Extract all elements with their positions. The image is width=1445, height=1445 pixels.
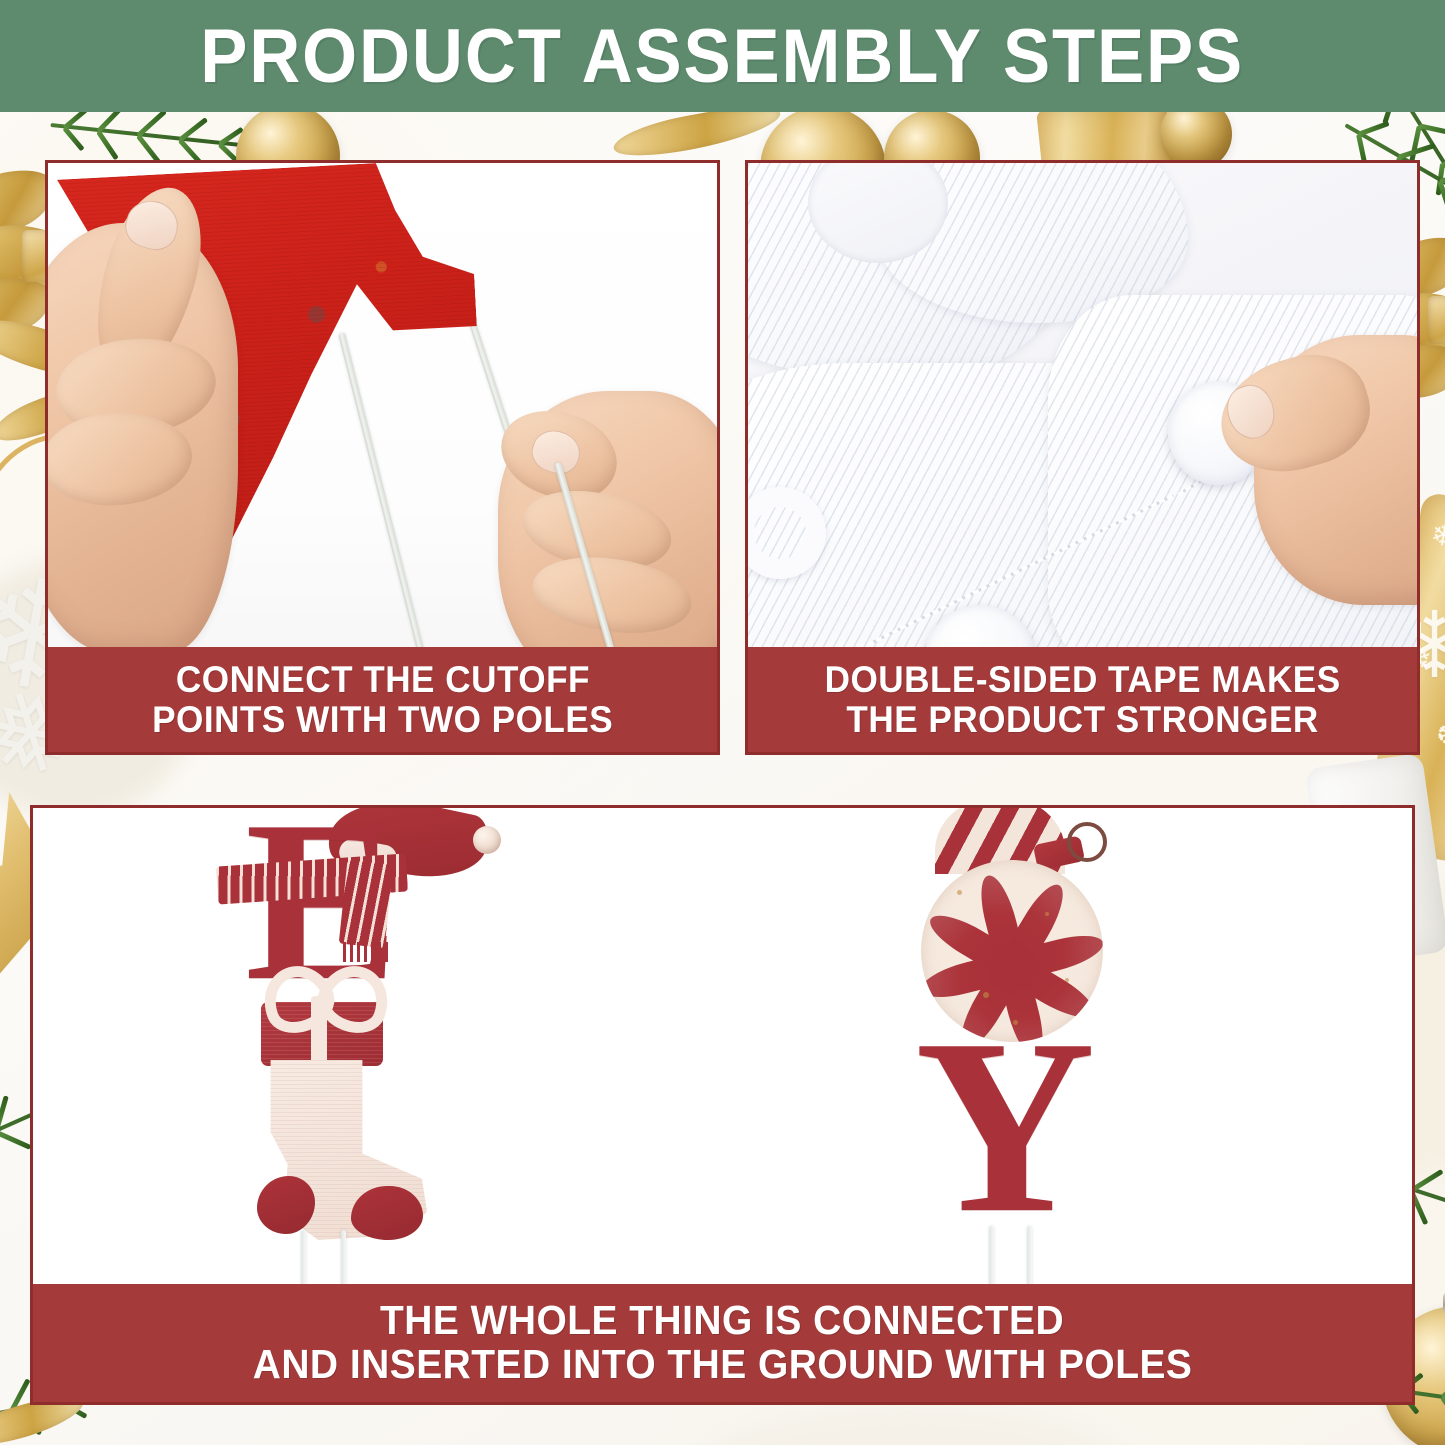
step-2-caption-line-2: THE PRODUCT STRONGER xyxy=(846,700,1318,740)
scarf-tail xyxy=(339,860,394,948)
step-3-caption: THE WHOLE THING IS CONNECTED AND INSERTE… xyxy=(33,1284,1412,1402)
texture-speck xyxy=(957,890,962,895)
white-pole xyxy=(301,1230,306,1290)
scarf-fringe xyxy=(343,942,389,962)
yard-sign-letter-y-assembly: Y xyxy=(881,808,1181,1276)
step-1-panel: CONNECT THE CUTOFF POINTS WITH TWO POLES xyxy=(45,160,720,755)
step-2-panel: DOUBLE-SIDED TAPE MAKES THE PRODUCT STRO… xyxy=(745,160,1420,755)
page-title: PRODUCT ASSEMBLY STEPS xyxy=(201,13,1245,100)
step-2-caption-line-1: DOUBLE-SIDED TAPE MAKES xyxy=(824,660,1340,700)
step-3-panel: E xyxy=(30,805,1415,1405)
white-pole xyxy=(341,1230,346,1290)
white-pole xyxy=(989,1226,994,1290)
step-1-caption: CONNECT THE CUTOFF POINTS WITH TWO POLES xyxy=(48,647,717,752)
snowflake-icon: ❆ xyxy=(1434,719,1445,751)
snowflake-icon: ❄ xyxy=(1428,519,1445,553)
santa-hat-pompom xyxy=(473,826,501,854)
texture-speck xyxy=(1045,912,1049,916)
yard-sign-letter-e-assembly: E xyxy=(223,808,523,1278)
step-1-photo xyxy=(48,163,717,653)
infographic-page: ❄ ❅ xyxy=(0,0,1445,1445)
step-1-caption-line-2: POINTS WITH TWO POLES xyxy=(152,700,613,740)
step-3-caption-line-1: THE WHOLE THING IS CONNECTED xyxy=(380,1299,1064,1343)
texture-speck xyxy=(1065,978,1069,982)
soft-highlight-blob xyxy=(700,1408,1120,1445)
step-1-caption-line-1: CONNECT THE CUTOFF xyxy=(175,660,589,700)
step-3-photo: E xyxy=(33,808,1412,1290)
gift-bow-ribbon-vertical xyxy=(311,996,327,1068)
step-2-photo xyxy=(748,163,1417,653)
step-3-caption-line-2: AND INSERTED INTO THE GROUND WITH POLES xyxy=(253,1343,1193,1387)
stocking-toe xyxy=(351,1186,423,1240)
letter-y-glyph: Y xyxy=(915,1002,1096,1252)
header-banner: PRODUCT ASSEMBLY STEPS xyxy=(0,0,1445,112)
white-pole xyxy=(1027,1226,1032,1290)
ornament-hanging-ring xyxy=(1067,822,1107,862)
step-2-caption: DOUBLE-SIDED TAPE MAKES THE PRODUCT STRO… xyxy=(748,647,1417,752)
